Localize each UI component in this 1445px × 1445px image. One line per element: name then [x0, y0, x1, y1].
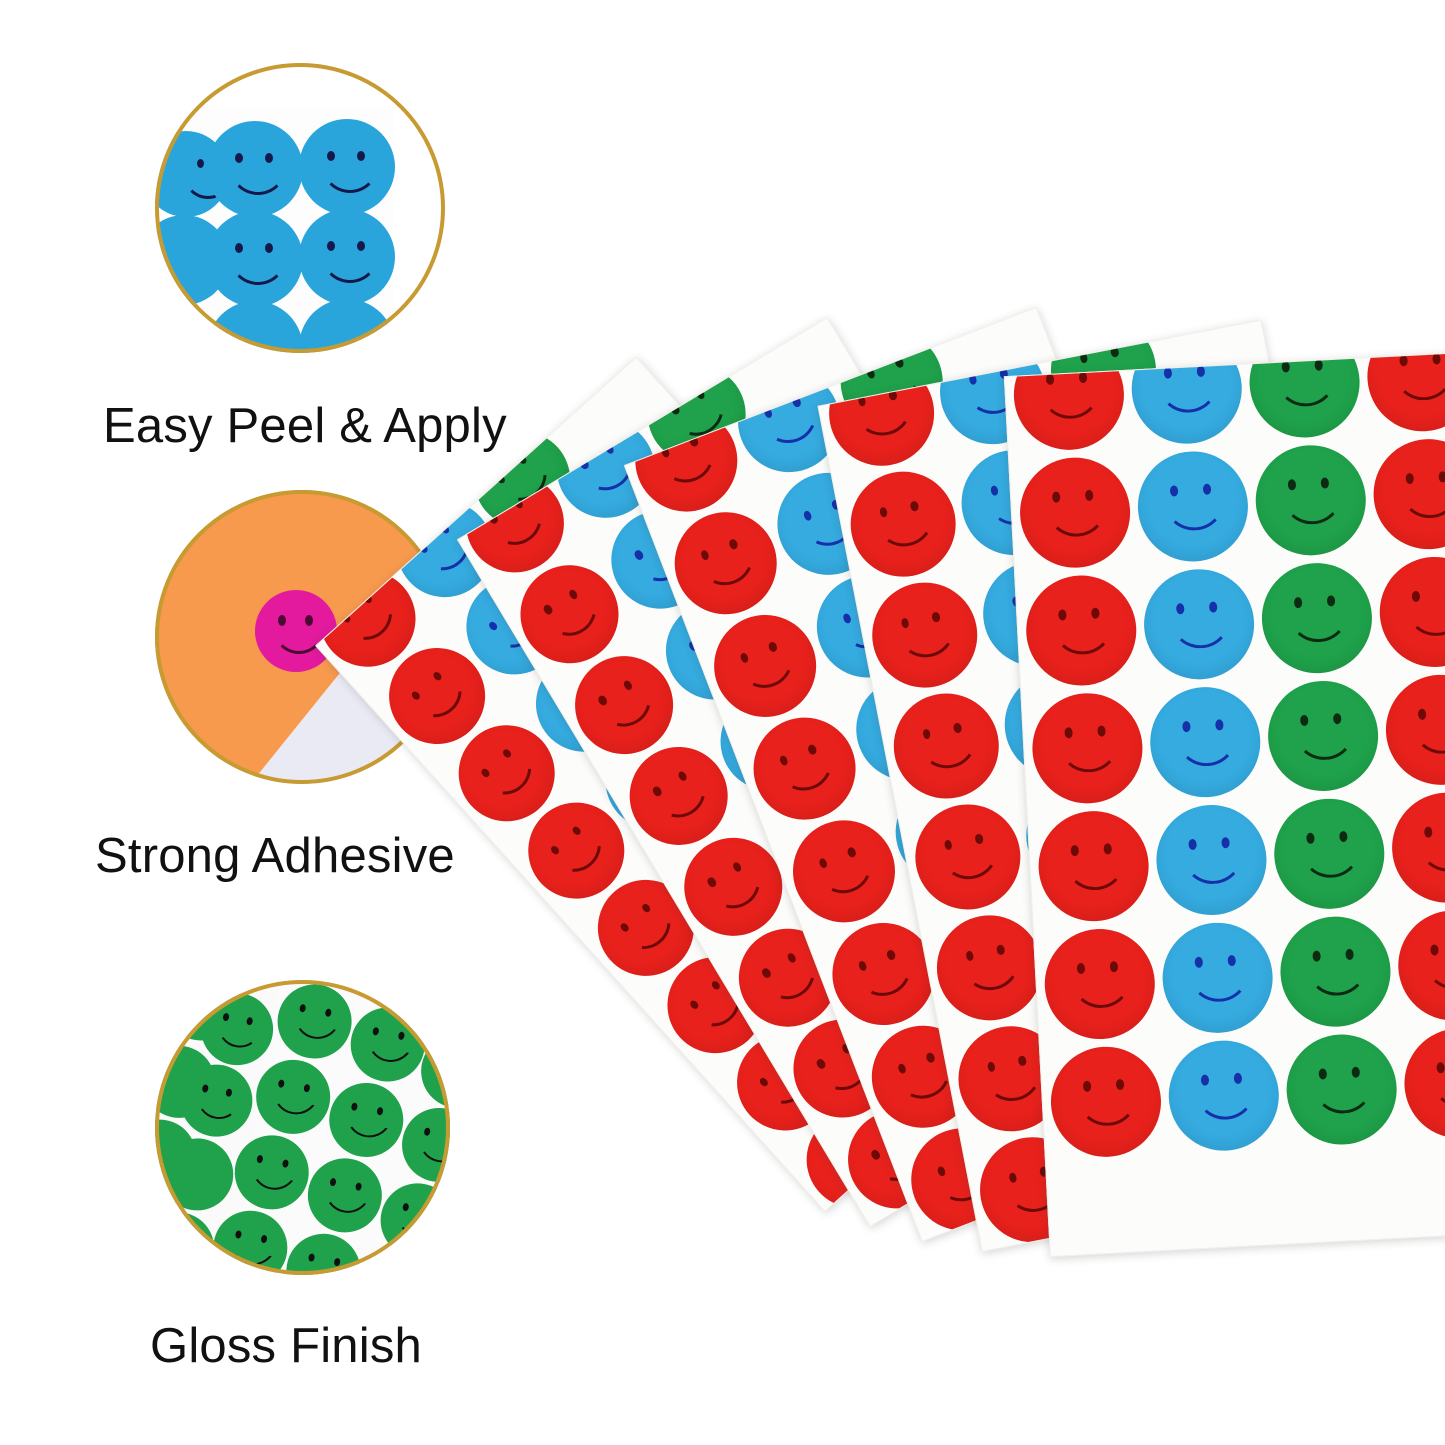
eye	[1436, 1062, 1445, 1073]
smile	[1430, 1071, 1445, 1109]
smile	[1195, 1083, 1258, 1121]
smile	[194, 1091, 241, 1122]
eye	[1070, 845, 1079, 856]
smile	[482, 747, 543, 806]
smile	[321, 1185, 370, 1217]
green-sticker-grid	[155, 980, 450, 1275]
smile	[1052, 618, 1115, 656]
eye	[1085, 490, 1094, 501]
smile	[364, 1034, 413, 1066]
eye	[1312, 950, 1321, 961]
sticker-green	[155, 1207, 220, 1275]
smile	[273, 624, 325, 654]
smile	[706, 863, 769, 918]
smile	[394, 1210, 443, 1242]
sticker-red	[1389, 790, 1445, 906]
eye	[1197, 366, 1206, 377]
feature-label-easy-peel: Easy Peel & Apply	[103, 398, 507, 454]
smile	[1182, 847, 1245, 885]
smile	[1170, 612, 1233, 650]
eye	[1194, 957, 1203, 968]
eye	[1110, 961, 1119, 972]
eye	[1306, 833, 1315, 844]
sticker-green	[229, 1129, 315, 1215]
eye	[1052, 491, 1061, 502]
eye	[1319, 1068, 1328, 1079]
sticker-red	[1395, 908, 1445, 1024]
eye	[1405, 473, 1414, 484]
eye	[357, 151, 365, 161]
smile	[1046, 500, 1109, 538]
eye	[1321, 477, 1330, 488]
smile	[776, 748, 841, 799]
eye	[1170, 485, 1179, 496]
fanned-sticker-sheets-photo	[470, 150, 1445, 1350]
eye	[1412, 591, 1421, 602]
sticker-magenta	[255, 590, 337, 672]
sticker-blue	[1147, 684, 1263, 800]
feature-label-gloss-finish: Gloss Finish	[150, 1318, 422, 1374]
eye	[1091, 608, 1100, 619]
sticker-red	[906, 795, 1029, 918]
smile	[291, 1011, 340, 1043]
smile	[551, 824, 612, 883]
smile	[321, 161, 379, 193]
sticker-green	[272, 980, 358, 1064]
eye	[1333, 713, 1342, 724]
smile	[1418, 835, 1445, 873]
smile	[214, 1020, 261, 1051]
smile	[1406, 599, 1445, 637]
smile	[1288, 605, 1351, 643]
smile	[597, 682, 660, 737]
eye	[1438, 471, 1445, 482]
sticker-red	[1042, 926, 1158, 1042]
sticker-blue	[1135, 449, 1251, 565]
sticker-green	[207, 1205, 293, 1275]
eye	[327, 241, 335, 251]
sticker-blue	[1166, 1038, 1282, 1154]
smile	[229, 253, 287, 285]
eye	[357, 241, 365, 251]
eye	[235, 153, 243, 163]
badge-easy-peel-photo	[155, 63, 445, 353]
eye	[1203, 484, 1212, 495]
smile	[658, 440, 723, 491]
sticker-red	[1030, 691, 1146, 807]
smile	[1164, 494, 1227, 532]
eye	[1227, 955, 1236, 966]
smile	[1412, 717, 1445, 755]
eye	[197, 159, 204, 168]
eye	[1345, 949, 1354, 960]
eye	[1288, 479, 1297, 490]
sticker-green	[375, 1178, 450, 1264]
sticker-green	[302, 1153, 388, 1239]
eye	[1188, 839, 1197, 850]
smile	[300, 1260, 349, 1275]
sticker-sheet-5	[1004, 352, 1445, 1257]
smile	[415, 1134, 450, 1166]
sticker-red	[1023, 573, 1139, 689]
smile	[855, 954, 920, 1005]
eye	[1351, 1067, 1360, 1078]
eye	[1424, 826, 1433, 837]
sticker-red	[1402, 1026, 1445, 1142]
sticker-blue	[1154, 802, 1270, 918]
eye	[1064, 727, 1073, 738]
eye	[1294, 597, 1303, 608]
smile	[1306, 959, 1369, 997]
eye	[1201, 1074, 1210, 1085]
smile	[1188, 965, 1251, 1003]
sticker-green	[323, 1077, 409, 1163]
sticker-blue	[207, 121, 303, 217]
smile	[1275, 370, 1338, 408]
eye	[1097, 725, 1106, 736]
smile	[1158, 376, 1221, 414]
sticker-blue	[207, 211, 303, 307]
eye	[1046, 374, 1055, 385]
sticker-green	[345, 1002, 431, 1088]
smile	[1393, 364, 1445, 402]
sticker-red	[778, 805, 910, 937]
smile	[1294, 723, 1357, 761]
eye	[1083, 1081, 1092, 1092]
sticker-red	[1048, 1044, 1164, 1160]
smile	[543, 591, 606, 646]
sticker-red	[1371, 436, 1445, 552]
eye	[1281, 361, 1290, 372]
smile	[248, 1162, 297, 1194]
sticker-blue	[299, 209, 395, 305]
eye	[1079, 372, 1088, 383]
smile	[1176, 729, 1239, 767]
smile	[816, 851, 881, 902]
sticker-blue	[1141, 567, 1257, 683]
smile	[1077, 1089, 1140, 1127]
eye	[1327, 595, 1336, 606]
smile	[621, 901, 682, 960]
sticker-grid	[1005, 353, 1445, 1256]
smile	[1071, 971, 1134, 1009]
sticker-red	[660, 497, 792, 629]
eye	[235, 243, 243, 253]
smile	[697, 543, 762, 594]
smile	[412, 669, 473, 728]
sticker-green	[1259, 560, 1375, 676]
smile	[270, 1086, 319, 1118]
eye	[1215, 719, 1224, 730]
eye	[1399, 355, 1408, 366]
sticker-red	[1365, 352, 1445, 435]
eye	[1221, 837, 1230, 848]
smile	[321, 251, 379, 283]
sticker-green	[1278, 914, 1394, 1030]
smile	[1040, 382, 1103, 420]
sticker-green	[1247, 352, 1363, 441]
badge-gloss-finish-photo	[155, 980, 450, 1275]
smile	[1300, 841, 1363, 879]
eye	[1430, 944, 1439, 955]
feature-label-strong-adhesive: Strong Adhesive	[95, 828, 455, 884]
sticker-red	[863, 574, 986, 697]
smile	[1058, 736, 1121, 774]
eye	[1116, 1079, 1125, 1090]
eye	[1176, 603, 1185, 614]
smile	[343, 1109, 392, 1141]
smile	[652, 772, 715, 827]
eye	[1164, 367, 1173, 378]
product-feature-image: Easy Peel & Apply Strong Adhesive	[0, 0, 1445, 1445]
sticker-red	[739, 703, 871, 835]
smile	[737, 646, 802, 697]
sticker-blue	[299, 119, 395, 215]
sticker-red	[842, 463, 965, 586]
eye	[265, 153, 273, 163]
smile	[761, 401, 826, 452]
eye	[1432, 353, 1441, 364]
eye	[1077, 963, 1086, 974]
sticker-green	[1265, 678, 1381, 794]
eye	[1182, 721, 1191, 732]
eye	[1209, 601, 1218, 612]
smile	[1312, 1077, 1375, 1115]
eye	[1339, 831, 1348, 842]
sticker-red	[1377, 554, 1445, 670]
eye	[265, 243, 273, 253]
sticker-red	[1036, 808, 1152, 924]
sticker-green	[1253, 443, 1369, 559]
eye	[1103, 843, 1112, 854]
smile	[1282, 488, 1345, 526]
sticker-green	[1271, 796, 1387, 912]
smile	[1064, 854, 1127, 892]
eye	[1234, 1073, 1243, 1084]
smile	[1424, 953, 1445, 991]
sticker-red	[1017, 455, 1133, 571]
sticker-blue	[1160, 920, 1276, 1036]
sticker-red	[699, 600, 831, 732]
sticker-green	[281, 1228, 367, 1275]
smile	[1399, 481, 1445, 519]
sticker-green	[396, 1102, 450, 1188]
smile	[229, 163, 287, 195]
eye	[1300, 715, 1309, 726]
sticker-green	[1284, 1032, 1400, 1148]
eye	[327, 151, 335, 161]
eye	[1418, 709, 1427, 720]
sticker-green	[250, 1054, 336, 1140]
smile	[227, 1237, 276, 1269]
sticker-red	[885, 684, 1008, 807]
sticker-red	[1383, 672, 1445, 788]
eye	[1314, 360, 1323, 371]
eye	[1058, 609, 1067, 620]
